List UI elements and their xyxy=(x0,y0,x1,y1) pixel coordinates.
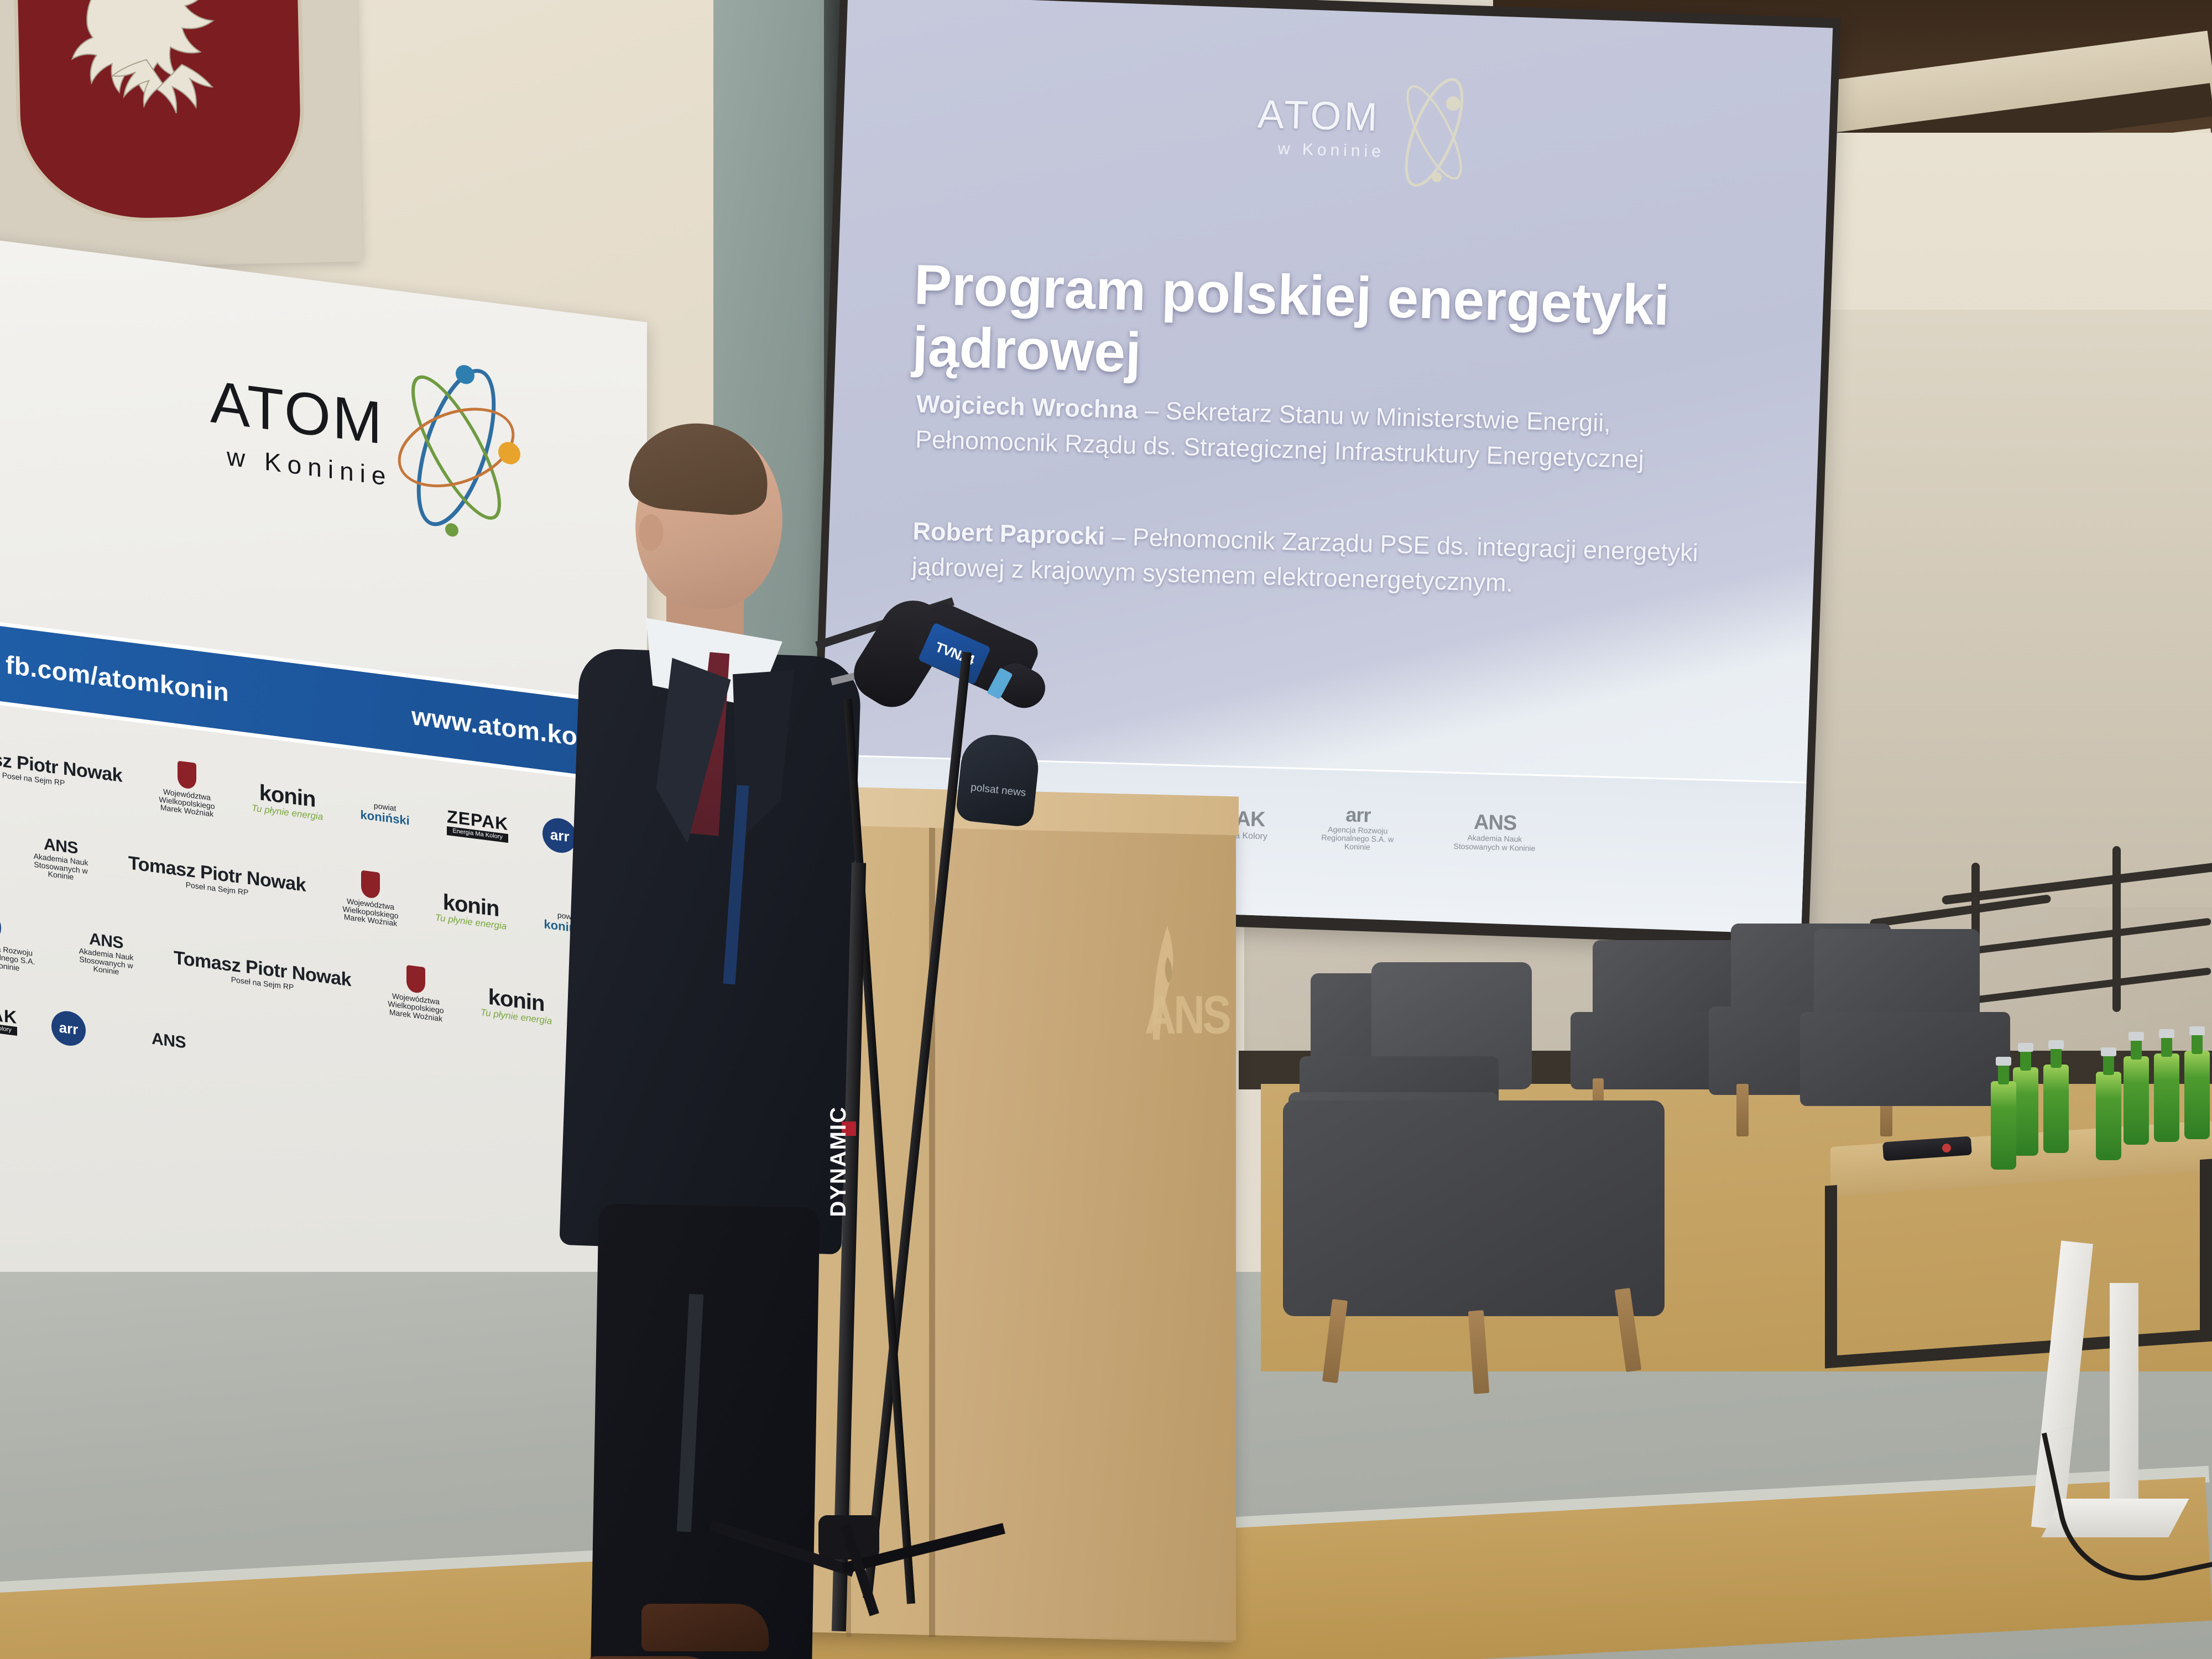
sponsor-logo-zepak: ZEPAK Energia Ma Kolory xyxy=(0,1001,17,1036)
sponsor-logo-marshal: Województwa Wielkopolskiego Marek Woźnia… xyxy=(156,758,217,819)
water-bottle[interactable] xyxy=(2154,1053,2179,1142)
water-bottle[interactable] xyxy=(1991,1081,2016,1170)
sponsor-logo-konin: konin Tu płynie energia xyxy=(252,780,323,822)
sponsor-logo-nowak: Tomasz Piotr Nowak Poseł na Sejm RP xyxy=(128,853,306,904)
slide-speaker-2: Robert Paprocki – Pełnomocnik Zarządu PS… xyxy=(911,513,1743,607)
polish-eagle-icon xyxy=(61,0,264,150)
sponsor-logo-powiat: powiat koniński xyxy=(357,800,413,827)
water-bottle[interactable] xyxy=(2096,1072,2121,1160)
ear xyxy=(639,514,663,551)
conference-photo-scene: ATOM w Koninie Program polskiej energety… xyxy=(0,0,2212,1659)
tripod-brand-label: DYNAMIC xyxy=(826,1106,851,1217)
sponsor-logo-arr: arr Agencja Rozwoju Regionalnego S.A. w … xyxy=(0,907,39,974)
sponsor-name: ANS xyxy=(141,1029,196,1053)
hair xyxy=(627,418,773,518)
sponsor-name: ZEPAK xyxy=(0,1001,17,1027)
sponsor-logo-marshal: Województwa Wielkopolskiego Marek Woźnia… xyxy=(340,868,401,928)
microphone-head-polsat xyxy=(955,732,1041,828)
slide-speaker-1: Wojciech Wrochna – Sekretarz Stanu w Min… xyxy=(915,386,1746,480)
marshal-shield-icon xyxy=(361,870,380,899)
sponsor-logo-konin: konin Tu płynie energia xyxy=(435,890,507,932)
sponsor-logo-ans: ANS Akademia Nauk Stosowanych w Koninie xyxy=(28,834,94,884)
coat-of-arms-plaque xyxy=(0,0,362,269)
sponsor-name: arr xyxy=(0,907,1,946)
sponsor-name: arr xyxy=(51,1009,86,1048)
remote-button-icon xyxy=(1942,1144,1951,1152)
sponsor-logo-nowak: Tomasz Piotr Nowak Poseł na Sejm RP xyxy=(0,744,122,794)
sponsor-logo-konin: konin Tu płynie energia xyxy=(481,984,552,1026)
slide-footer-logo-sub: Agencja Rozwoju Regionalnego S.A. w Koni… xyxy=(1310,825,1405,853)
slide-footer-logo-name: arr xyxy=(1311,803,1405,827)
atom-orbit-icon xyxy=(1374,67,1494,197)
slide-footer-logo-name: ANS xyxy=(1448,810,1542,836)
slide-speaker-1-name: Wojciech Wrochna xyxy=(916,389,1138,424)
sponsor-logo-ans: ANS xyxy=(141,1029,196,1053)
water-bottle[interactable] xyxy=(2124,1056,2149,1145)
water-bottle[interactable] xyxy=(2184,1051,2210,1139)
sponsor-sub: Województwa Wielkopolskiego Marek Woźnia… xyxy=(156,787,217,819)
banner-sponsor-grid: Tomasz Piotr Nowak Poseł na Sejm RP Woje… xyxy=(0,731,647,1158)
shoe xyxy=(641,1604,769,1651)
trousers xyxy=(590,1204,820,1659)
lectern-ans-letters: ANS xyxy=(1145,984,1229,1047)
sponsor-sub: Województwa Wielkopolskiego Marek Woźnia… xyxy=(340,896,401,928)
step-and-repeat-banner: ATOM w Koninie fb.com/atomkonin www.atom… xyxy=(0,238,647,1395)
right-wall xyxy=(1825,133,2212,907)
slide-speaker-2-name: Robert Paprocki xyxy=(912,517,1105,550)
water-bottle[interactable] xyxy=(2043,1065,2069,1153)
slide-title: Program polskiej energetyki jądrowej xyxy=(911,253,1761,401)
sponsor-sub: Agencja Rozwoju Regionalnego S.A. w Koni… xyxy=(0,941,39,974)
banner-atom-orbit-icon xyxy=(373,343,539,552)
sponsor-logo-ans: ANS Akademia Nauk Stosowanych w Koninie xyxy=(73,928,139,979)
coffee-table-frame xyxy=(1825,1159,2212,1369)
sponsor-logo-marshal: Województwa Wielkopolskiego Marek Woźnia… xyxy=(385,962,446,1023)
coat-of-arms-shield xyxy=(13,0,306,225)
marshal-shield-icon xyxy=(178,761,196,790)
railing-post xyxy=(2112,846,2121,1012)
banner-atom-logo: ATOM w Koninie xyxy=(210,367,465,631)
sponsor-logo-zepak: ZEPAK Energia Ma Kolory xyxy=(447,808,508,843)
sponsor-sub: Województwa Wielkopolskiego Marek Woźnia… xyxy=(385,991,446,1023)
water-bottle[interactable] xyxy=(2013,1067,2038,1156)
marshal-shield-icon xyxy=(406,965,425,994)
slide-footer-logo: arr Agencja Rozwoju Regionalnego S.A. w … xyxy=(1310,803,1405,853)
slide-atom-logo: ATOM w Koninie xyxy=(1254,91,1441,234)
speaker-person xyxy=(564,431,852,1648)
sponsor-logo-nowak: Tomasz Piotr Nowak Poseł na Sejm RP xyxy=(174,948,351,999)
slide-footer-logo: ANS Akademia Nauk Stosowanych w Koninie xyxy=(1447,810,1542,853)
sponsor-logo-arr: arr xyxy=(51,1009,107,1051)
slide-footer-logo-sub: Akademia Nauk Stosowanych w Koninie xyxy=(1447,833,1542,853)
banner-facebook-url: fb.com/atomkonin xyxy=(6,649,229,707)
